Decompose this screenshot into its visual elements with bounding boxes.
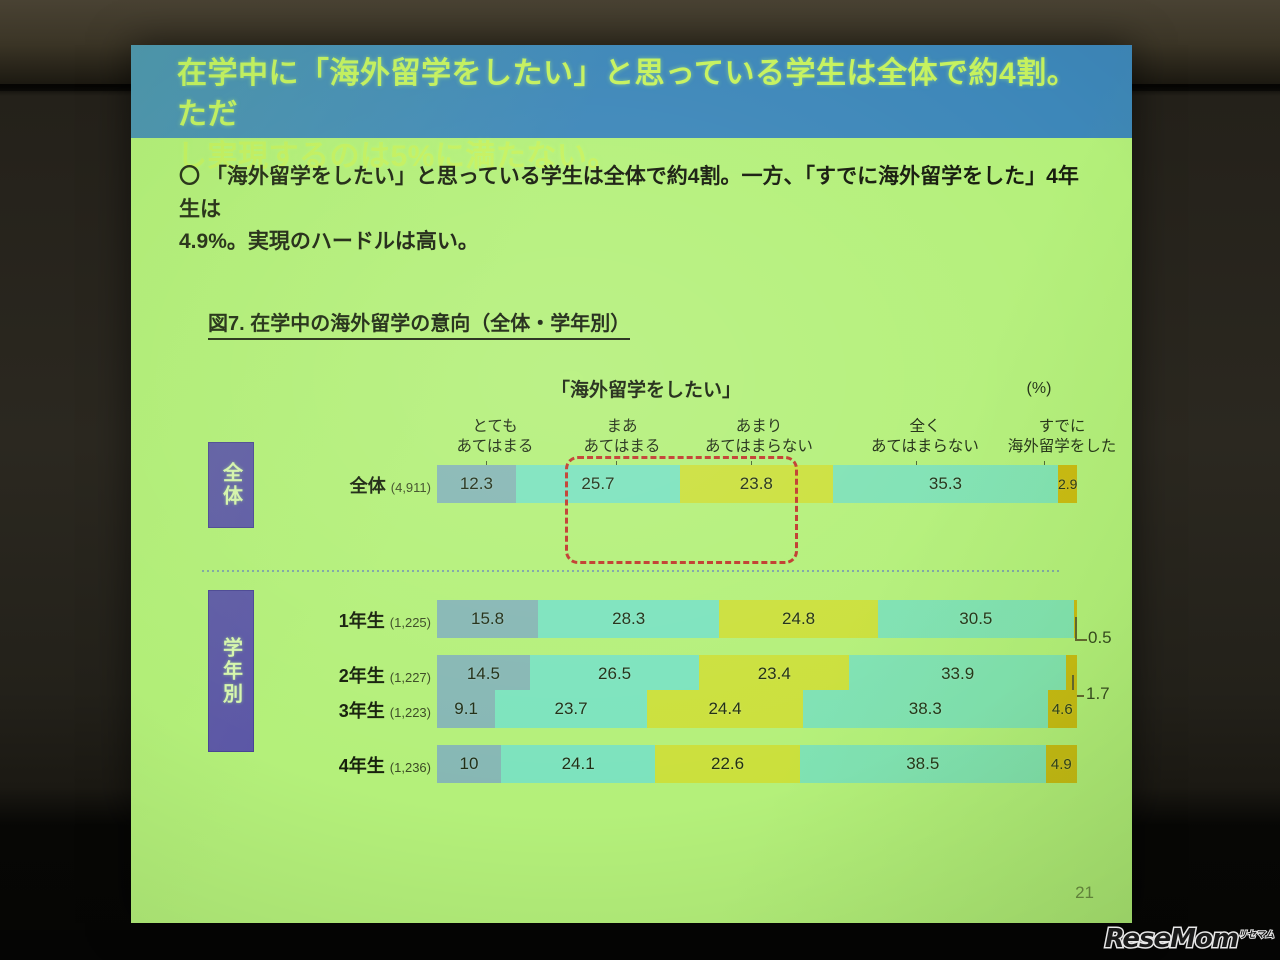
bar-row-total: 12.3 25.7 23.8 35.3 2.9 (437, 465, 1077, 503)
bar-segment-grade2-3: 33.9 (849, 655, 1066, 693)
bar-segment-grade1-3: 30.5 (878, 600, 1074, 638)
row-label-grade4-text: 4年生 (339, 756, 385, 776)
bar-value-total-2: 23.8 (740, 474, 773, 494)
row-label-grade2-text: 2年生 (339, 666, 385, 686)
bar-value-grade3-3: 38.3 (909, 699, 942, 719)
bar-value-total-1: 25.7 (581, 474, 614, 494)
row-label-grade3-text: 3年生 (339, 701, 385, 721)
bar-value-grade3-2: 24.4 (708, 699, 741, 719)
row-label-grade2-count: (1,227) (390, 670, 431, 685)
row-label-grade4: 4年生 (1,236) (301, 752, 431, 778)
bar-segment-total-3: 35.3 (833, 465, 1059, 503)
stacked-bar-chart: 「海外留学をしたい」 (%) とてもあてはまる まああてはまる あまりあてはまら… (131, 45, 1132, 923)
bar-segment-grade2-1: 26.5 (530, 655, 700, 693)
watermark-superscript: リセマム (1238, 930, 1274, 940)
bar-value-grade3-1: 23.7 (555, 699, 588, 719)
bar-value-grade3-0: 9.1 (454, 699, 478, 719)
bar-segment-grade3-3: 38.3 (803, 690, 1047, 728)
bar-value-grade4-4: 4.9 (1051, 756, 1072, 773)
chart-group-header: 「海外留学をしたい」 (546, 375, 746, 402)
bar-value-total-4: 2.9 (1058, 476, 1077, 492)
page-number: 21 (1075, 883, 1094, 903)
bar-segment-grade2-2: 23.4 (699, 655, 849, 693)
row-label-total-count: (4,911) (391, 480, 431, 495)
section-tab-total: 全体 (208, 442, 254, 528)
row-label-grade2: 2年生 (1,227) (301, 662, 431, 688)
bar-value-grade2-0: 14.5 (467, 664, 500, 684)
legend-label-2: あまりあてはまらない (683, 417, 835, 456)
row-label-grade3: 3年生 (1,223) (301, 697, 431, 723)
bar-value-grade4-1: 24.1 (562, 754, 595, 774)
bar-segment-grade1-1: 28.3 (538, 600, 719, 638)
bar-segment-grade4-3: 38.5 (800, 745, 1046, 783)
bar-row-grade4: 10 24.1 22.6 38.5 4.9 (437, 745, 1077, 783)
callout-grade1-hline (1075, 639, 1087, 641)
callout-grade1-vline (1075, 617, 1077, 641)
bar-segment-grade2-0: 14.5 (437, 655, 530, 693)
bar-segment-grade3-0: 9.1 (437, 690, 495, 728)
row-label-grade1: 1年生 (1,225) (301, 607, 431, 633)
row-label-total-text: 全体 (350, 476, 386, 496)
watermark: ReseMomリセマム (1105, 924, 1274, 954)
legend-label-0: とてもあてはまる (439, 417, 551, 456)
row-label-total: 全体 (4,911) (301, 472, 431, 498)
bar-value-total-3: 35.3 (929, 474, 962, 494)
callout-grade1-label: 0.5 (1088, 628, 1112, 648)
legend-label-1: まああてはまる (563, 417, 681, 456)
bar-value-grade2-2: 23.4 (758, 664, 791, 684)
bar-segment-grade3-2: 24.4 (647, 690, 803, 728)
bar-row-grade3: 9.1 23.7 24.4 38.3 4.6 (437, 690, 1077, 728)
bar-segment-grade4-0: 10 (437, 745, 501, 783)
bar-segment-grade1-0: 15.8 (437, 600, 538, 638)
bar-value-grade1-1: 28.3 (612, 609, 645, 629)
bar-segment-total-1: 25.7 (516, 465, 680, 503)
bar-segment-total-0: 12.3 (437, 465, 516, 503)
bar-value-grade2-1: 26.5 (598, 664, 631, 684)
bar-segment-total-2: 23.8 (680, 465, 832, 503)
bar-segment-grade1-2: 24.8 (719, 600, 878, 638)
bar-segment-grade3-1: 23.7 (495, 690, 647, 728)
chart-unit-label: (%) (999, 380, 1079, 398)
bar-segment-grade4-1: 24.1 (501, 745, 655, 783)
bar-value-grade1-3: 30.5 (959, 609, 992, 629)
bar-segment-grade3-4: 4.6 (1048, 690, 1077, 728)
row-label-grade1-text: 1年生 (339, 611, 385, 631)
row-label-grade1-count: (1,225) (390, 615, 431, 630)
callout-grade2-label: 1.7 (1086, 684, 1110, 704)
section-divider (202, 570, 1062, 572)
bar-value-grade2-3: 33.9 (941, 664, 974, 684)
bar-value-total-0: 12.3 (460, 474, 493, 494)
projected-slide: 在学中に「海外留学をしたい」と思っている学生は全体で約4割。ただ し実現するのは… (131, 45, 1132, 923)
bar-segment-grade4-4: 4.9 (1046, 745, 1077, 783)
bar-segment-total-4: 2.9 (1058, 465, 1077, 503)
bar-value-grade4-3: 38.5 (906, 754, 939, 774)
bar-row-grade1: 15.8 28.3 24.8 30.5 (437, 600, 1077, 638)
bar-value-grade3-4: 4.6 (1052, 701, 1073, 718)
row-label-grade3-count: (1,223) (390, 705, 431, 720)
bar-segment-grade4-2: 22.6 (655, 745, 800, 783)
bar-value-grade1-2: 24.8 (782, 609, 815, 629)
section-tab-by-grade: 学年別 (208, 590, 254, 752)
row-label-grade4-count: (1,236) (390, 760, 431, 775)
legend-label-3: 全くあてはまらない (849, 417, 1001, 456)
bar-value-grade4-2: 22.6 (711, 754, 744, 774)
bar-value-grade1-0: 15.8 (471, 609, 504, 629)
legend-label-4: すでに海外留学をした (997, 417, 1127, 456)
floor-shadow (0, 930, 1280, 960)
bar-row-grade2: 14.5 26.5 23.4 33.9 (437, 655, 1077, 693)
watermark-text: ReseMom (1105, 924, 1238, 954)
bar-value-grade4-0: 10 (460, 754, 479, 774)
